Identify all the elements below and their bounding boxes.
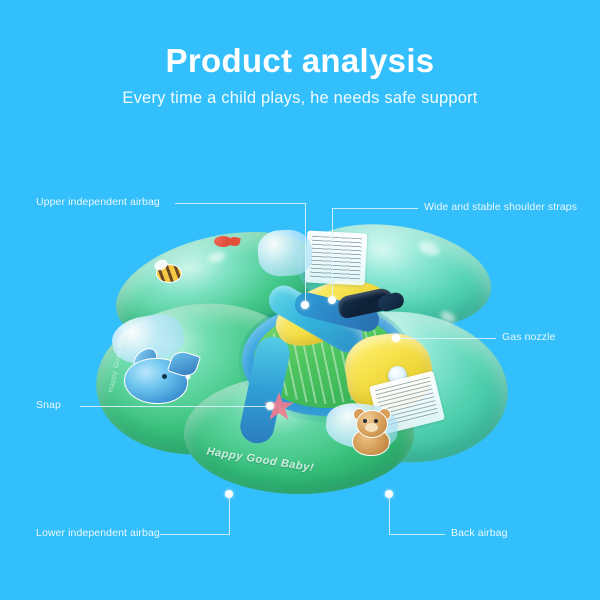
whale-sticker — [118, 344, 196, 406]
fish-tail-icon — [228, 236, 241, 247]
leader-line-horizontal — [389, 534, 445, 535]
callout-dot-upper-independent-airbag — [301, 301, 309, 309]
leader-line-horizontal — [332, 208, 418, 209]
leader-line-vertical — [389, 496, 390, 534]
bear-muzzle-icon — [365, 423, 378, 432]
leader-line-vertical — [332, 208, 333, 300]
fish-sticker — [214, 234, 240, 248]
whale-spout-icon — [180, 370, 196, 384]
bee-sticker — [150, 260, 184, 284]
callout-dot-back-airbag — [385, 490, 393, 498]
bear-sticker — [342, 404, 398, 458]
callout-dot-lower-independent-airbag — [225, 490, 233, 498]
leader-line-vertical — [229, 496, 230, 534]
leader-line-horizontal — [396, 338, 496, 339]
callout-dot-gas-nozzle — [392, 334, 400, 342]
leader-line-vertical — [305, 203, 306, 305]
callout-dot-snap — [266, 402, 274, 410]
callout-label-snap: Snap — [36, 399, 61, 411]
leader-line-horizontal — [175, 203, 305, 204]
callout-dot-wide-stable-shoulder-straps — [328, 296, 336, 304]
bear-eye-left-icon — [363, 419, 367, 423]
callout-label-lower-independent-airbag: Lower independent airbag — [36, 527, 160, 539]
callout-label-back-airbag: Back airbag — [451, 527, 508, 539]
instruction-label-top — [305, 230, 368, 285]
leader-line-horizontal — [160, 534, 230, 535]
whale-eye-icon — [162, 374, 167, 379]
callout-label-wide-stable-shoulder-straps: Wide and stable shoulder straps — [424, 201, 577, 213]
callout-label-gas-nozzle: Gas nozzle — [502, 331, 556, 343]
leader-line-horizontal — [80, 406, 270, 407]
infographic-canvas: Product analysis Every time a child play… — [0, 0, 600, 600]
callout-label-upper-independent-airbag: Upper independent airbag — [36, 196, 160, 208]
product-image-baby-swim-float: Happy Good Baby! Happy Good Baby — [88, 208, 512, 518]
bear-eye-right-icon — [374, 419, 378, 423]
page-subtitle: Every time a child plays, he needs safe … — [0, 89, 600, 108]
page-title: Product analysis — [0, 42, 600, 80]
